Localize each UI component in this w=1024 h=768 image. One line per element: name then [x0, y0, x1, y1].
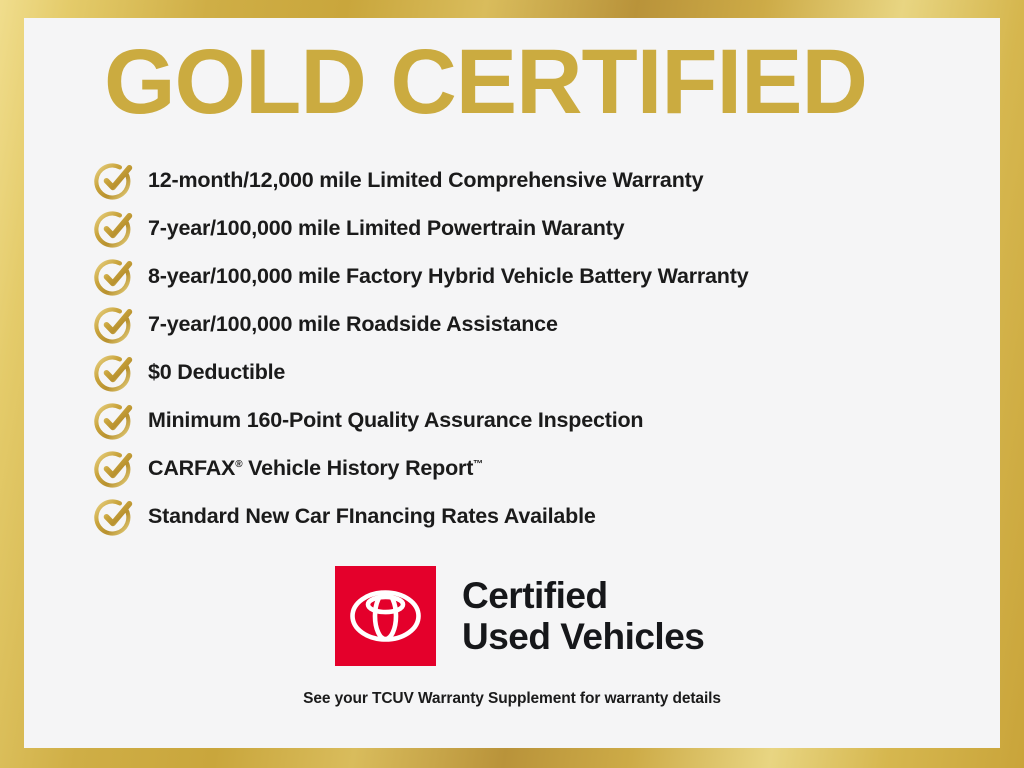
- gold-certified-certificate: GOLD CERTIFIED: [0, 0, 1024, 768]
- gold-check-circle-icon: [94, 447, 138, 489]
- list-item: 7-year/100,000 mile Roadside Assistance: [94, 300, 994, 348]
- list-item: $0 Deductible: [94, 348, 994, 396]
- trademark-mark-icon: ™: [473, 458, 483, 469]
- gold-check-circle-icon: [94, 351, 138, 393]
- gold-check-circle-icon: [94, 255, 138, 297]
- list-item: 12-month/12,000 mile Limited Comprehensi…: [94, 156, 994, 204]
- certificate-card: GOLD CERTIFIED: [24, 18, 1000, 748]
- benefit-label: Minimum 160-Point Quality Assurance Insp…: [148, 408, 643, 433]
- brand-line-used-vehicles: Used Vehicles: [462, 616, 704, 657]
- list-item: Standard New Car FInancing Rates Availab…: [94, 492, 994, 540]
- benefit-label: 8-year/100,000 mile Factory Hybrid Vehic…: [148, 264, 748, 289]
- gold-check-circle-icon: [94, 303, 138, 345]
- list-item: CARFAX® Vehicle History Report™: [94, 444, 994, 492]
- list-item: Minimum 160-Point Quality Assurance Insp…: [94, 396, 994, 444]
- gold-check-circle-icon: [94, 159, 138, 201]
- brand-line-certified: Certified: [462, 575, 704, 616]
- gold-check-circle-icon: [94, 207, 138, 249]
- carfax-report-label: Vehicle History Report: [242, 456, 473, 480]
- benefit-label: Standard New Car FInancing Rates Availab…: [148, 504, 596, 529]
- benefit-label-carfax: CARFAX® Vehicle History Report™: [148, 456, 483, 481]
- toyota-certified-used-vehicles-lockup: Certified Used Vehicles: [335, 566, 704, 666]
- gold-check-circle-icon: [94, 399, 138, 441]
- benefit-label: 7-year/100,000 mile Limited Powertrain W…: [148, 216, 624, 241]
- brand-wordmark: Certified Used Vehicles: [462, 575, 704, 657]
- list-item: 7-year/100,000 mile Limited Powertrain W…: [94, 204, 994, 252]
- benefit-label: 12-month/12,000 mile Limited Comprehensi…: [148, 168, 703, 193]
- benefit-label: 7-year/100,000 mile Roadside Assistance: [148, 312, 558, 337]
- benefits-list: 12-month/12,000 mile Limited Comprehensi…: [94, 156, 994, 540]
- warranty-footnote: See your TCUV Warranty Supplement for wa…: [24, 690, 1000, 708]
- benefit-label: $0 Deductible: [148, 360, 285, 385]
- list-item: 8-year/100,000 mile Factory Hybrid Vehic…: [94, 252, 994, 300]
- carfax-wordmark: CARFAX: [148, 456, 235, 480]
- gold-check-circle-icon: [94, 495, 138, 537]
- toyota-emblem-icon: [335, 566, 436, 666]
- page-title: GOLD CERTIFIED: [104, 34, 867, 130]
